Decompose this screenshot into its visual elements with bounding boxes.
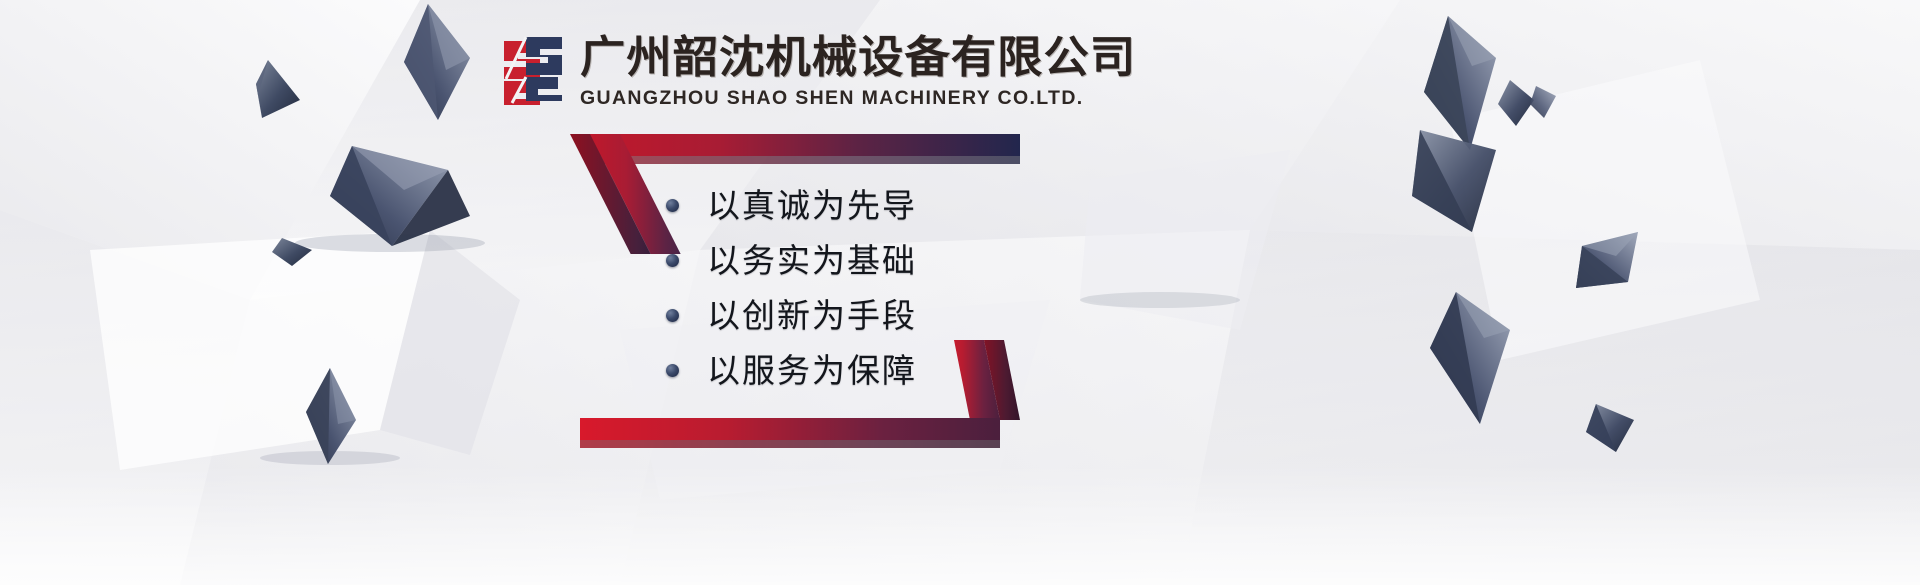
slogan-text: 以创新为手段 xyxy=(707,297,917,335)
slogan-list: 以真诚为先导 以务实为基础 以创新为手段 以服务为保障 xyxy=(666,178,917,398)
navy-dot-bullet-icon xyxy=(666,309,679,322)
slogan-item: 以创新为手段 xyxy=(666,288,917,343)
slogan-text: 以服务为保障 xyxy=(707,352,917,390)
ss-monogram-logo-icon xyxy=(500,33,566,105)
bottom-reflection-overlay xyxy=(0,465,1920,585)
company-name-cn: 广州韶沈机械设备有限公司 xyxy=(580,33,1136,83)
company-banner: 广州韶沈机械设备有限公司 GUANGZHOU SHAO SHEN MACHINE… xyxy=(0,0,1920,585)
navy-dot-bullet-icon xyxy=(666,364,679,377)
slogan-item: 以服务为保障 xyxy=(666,343,917,398)
navy-dot-bullet-icon xyxy=(666,199,679,212)
slogan-item: 以务实为基础 xyxy=(666,233,917,288)
slogan-text: 以真诚为先导 xyxy=(707,187,917,225)
brand-block: 广州韶沈机械设备有限公司 GUANGZHOU SHAO SHEN MACHINE… xyxy=(500,33,1120,110)
crystal-shards-right xyxy=(1320,0,1920,585)
navy-dot-bullet-icon xyxy=(666,254,679,267)
slogan-item: 以真诚为先导 xyxy=(666,178,917,233)
brand-text-block: 广州韶沈机械设备有限公司 GUANGZHOU SHAO SHEN MACHINE… xyxy=(580,33,1120,110)
slogan-text: 以务实为基础 xyxy=(707,242,917,280)
company-name-en: GUANGZHOU SHAO SHEN MACHINERY CO.LTD. xyxy=(580,86,1120,110)
